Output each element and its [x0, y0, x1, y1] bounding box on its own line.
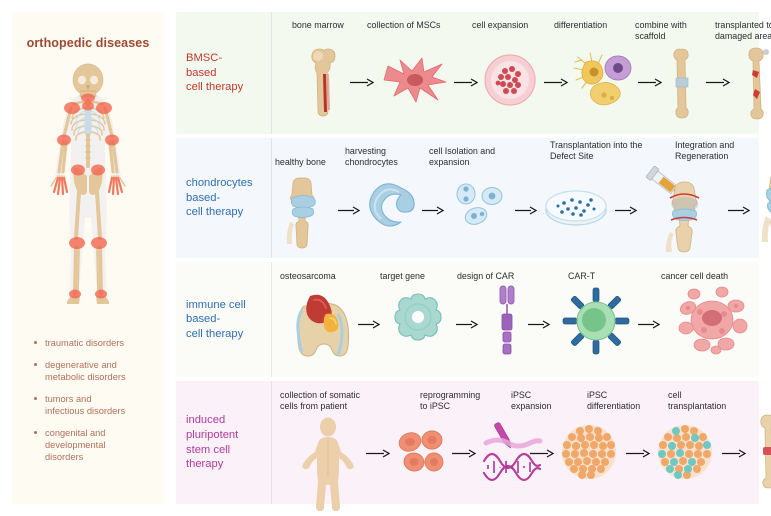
step-caption: collection of MSCs	[367, 20, 467, 31]
car-t-cell-icon	[560, 288, 632, 354]
disease-label: degenerative and metabolic disorders	[45, 360, 126, 382]
cell-culture-colony-icon	[484, 54, 536, 106]
row-body-immune: osteosarcoma target gene design of CAR C…	[272, 262, 759, 377]
bullet-icon	[34, 431, 37, 434]
flow-arrow	[615, 206, 639, 215]
bone-knee-transplant-icon	[756, 411, 771, 489]
flow-arrow	[456, 320, 480, 329]
human-skeleton-diagram	[38, 58, 138, 326]
row-label-immune: immune cell based- cell therapy	[176, 262, 272, 377]
row-chondrocytes-based-cell-therapy: chondrocytes based- cell therapy healthy…	[176, 138, 759, 258]
flow-arrow	[528, 320, 552, 329]
plasmid-gene-icon	[390, 292, 446, 348]
osteosarcoma-tumor-icon	[290, 292, 352, 364]
step-caption: combine with scaffold	[635, 20, 715, 42]
dying-cancer-cells-icon	[672, 286, 752, 354]
step-caption: cell Isolation and expansion	[429, 146, 519, 168]
flow-arrow	[515, 206, 539, 215]
flow-arrow	[544, 78, 570, 87]
step-caption: transplanted to the damaged area	[715, 20, 771, 42]
bone-scaffold-icon	[672, 46, 696, 118]
step-caption: osteosarcoma	[280, 271, 370, 282]
flow-arrow	[338, 206, 362, 215]
row-label-text: BMSC- based cell therapy	[176, 51, 247, 95]
isolated-chondrocytes-icon	[452, 180, 508, 232]
flow-arrow	[626, 449, 652, 458]
panel-title: orthopedic diseases	[12, 36, 164, 50]
step-caption: target gene	[380, 271, 460, 282]
bullet-icon	[34, 341, 37, 344]
list-item: traumatic disorders	[32, 337, 164, 349]
row-immune-cell-based-cell-therapy: immune cell based- cell therapy osteosar…	[176, 262, 759, 377]
syringe-injection-knee-icon	[644, 166, 722, 248]
flow-arrow	[706, 78, 732, 87]
patient-body-icon	[299, 417, 357, 497]
flow-arrow	[530, 449, 556, 458]
orthopedic-cell-therapy-figure: orthopedic diseases	[0, 0, 771, 516]
row-induced-pluripotent-stem-cell-therapy: induced pluripotent stem cell therapy co…	[176, 381, 759, 504]
step-caption: cell expansion	[472, 20, 552, 31]
differentiated-cells-icon	[572, 50, 634, 108]
row-label-ipsc: induced pluripotent stem cell therapy	[176, 381, 272, 504]
step-caption: harvesting chondrocytes	[345, 146, 425, 168]
row-body-bmsc: bone marrow collection of MSCs cell expa…	[272, 12, 759, 134]
step-caption: CAR-T	[568, 271, 628, 282]
flow-arrow	[722, 449, 748, 458]
row-label-text: induced pluripotent stem cell therapy	[176, 413, 242, 471]
row-label-bmsc: BMSC- based cell therapy	[176, 12, 272, 134]
flow-arrow	[728, 206, 752, 215]
flow-arrow	[366, 449, 392, 458]
orthopedic-diseases-panel: orthopedic diseases	[12, 12, 164, 504]
row-label-chondrocytes: chondrocytes based- cell therapy	[176, 138, 272, 258]
list-item: tumors and infectious disorders	[32, 393, 164, 417]
bullet-icon	[34, 363, 37, 366]
step-caption: Transplantation into the Defect Site	[550, 140, 670, 162]
step-caption: iPSC differentiation	[587, 390, 665, 412]
row-body-ipsc: collection of somatic cells from patient…	[272, 381, 759, 504]
step-caption: Integration and Regeneration	[675, 140, 765, 162]
step-caption: design of CAR	[457, 271, 547, 282]
list-item: congenital and developmental disorders	[32, 427, 164, 464]
row-label-text: immune cell based- cell therapy	[176, 298, 250, 342]
somatic-cells-icon	[396, 429, 444, 477]
step-caption: collection of somatic cells from patient	[280, 390, 400, 412]
row-bmsc-based-cell-therapy: BMSC- based cell therapy bone marrow col…	[176, 12, 759, 134]
cartilage-tissue-icon	[365, 180, 415, 232]
differentiating-colony-icon	[656, 423, 714, 481]
step-caption: differentiation	[554, 20, 634, 31]
step-caption: iPSC expansion	[511, 390, 577, 412]
step-caption: healthy bone	[275, 157, 345, 168]
femur-bone-marrow-icon	[308, 46, 342, 118]
fractured-bone-graft-icon	[746, 44, 771, 120]
flow-arrow	[638, 320, 662, 329]
car-receptor-icon	[492, 284, 522, 356]
bullet-icon	[34, 397, 37, 400]
knee-joint-icon	[284, 176, 330, 248]
ipsc-colony-icon	[560, 423, 618, 481]
flow-arrow	[358, 320, 382, 329]
flow-arrow	[350, 78, 376, 87]
flow-arrow	[638, 78, 664, 87]
step-caption: reprogramming to iPSC	[420, 390, 500, 412]
row-body-chondrocytes: healthy bone harvesting chondrocytes cel…	[272, 138, 759, 258]
list-item: degenerative and metabolic disorders	[32, 359, 164, 383]
step-caption: cell transplantation	[668, 390, 758, 412]
disease-label: traumatic disorders	[45, 338, 124, 348]
flow-arrow	[452, 449, 478, 458]
flow-arrow	[454, 78, 480, 87]
flow-arrow	[422, 206, 446, 215]
disease-list: traumatic disorders degenerative and met…	[32, 337, 164, 473]
disease-label: tumors and infectious disorders	[45, 394, 125, 416]
regenerated-knee-icon	[762, 168, 771, 246]
disease-label: congenital and developmental disorders	[45, 428, 105, 462]
step-caption: bone marrow	[292, 20, 372, 31]
row-label-text: chondrocytes based- cell therapy	[176, 176, 257, 220]
step-caption: cancer cell death	[661, 271, 771, 282]
mesenchymal-stem-cell-icon	[382, 56, 450, 104]
petri-dish-culture-icon	[544, 188, 608, 228]
